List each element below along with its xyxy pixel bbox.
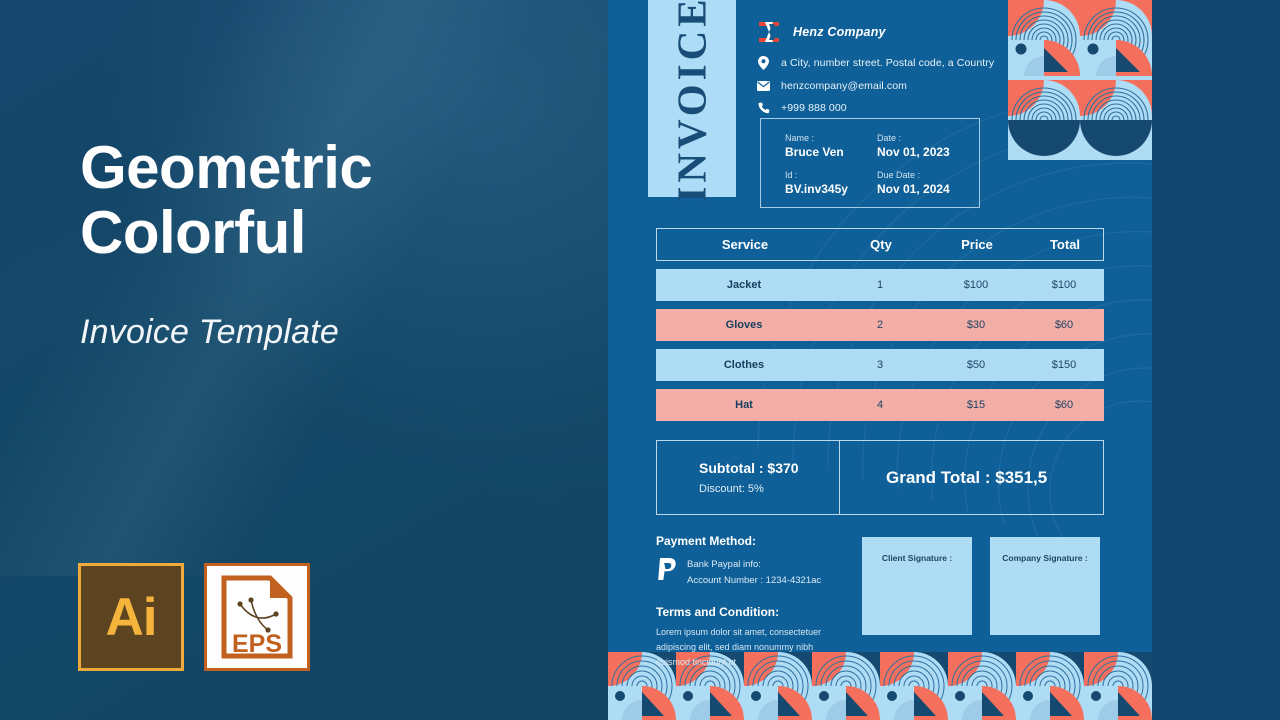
meta-date-label: Date :: [877, 133, 979, 143]
subtotal-cell: Subtotal : $370 Discount: 5%: [657, 441, 840, 514]
meta-due-value: Nov 01, 2024: [877, 182, 979, 196]
cell-qty: 3: [832, 359, 928, 371]
table-row: Jacket 1 $100 $100: [656, 269, 1104, 301]
location-pin-icon: [756, 56, 771, 70]
meta-name-label: Name :: [785, 133, 877, 143]
column-header-price: Price: [929, 237, 1025, 252]
cell-total: $60: [1024, 319, 1104, 331]
ai-format-badge[interactable]: Ai: [78, 563, 184, 671]
promo-panel: Geometric Colorful Invoice Template Ai E…: [0, 0, 608, 720]
table-row: Clothes 3 $50 $150: [656, 349, 1104, 381]
client-signature-box[interactable]: Client Signature :: [862, 537, 972, 635]
invoice-totals: Subtotal : $370 Discount: 5% Grand Total…: [656, 440, 1104, 515]
eps-format-badge[interactable]: EPS: [204, 563, 310, 671]
paypal-icon: [656, 557, 678, 581]
meta-id-label: Id :: [785, 170, 877, 180]
contact-email: henzcompany@email.com: [756, 80, 1134, 92]
cell-service: Gloves: [656, 319, 832, 331]
table-row: Gloves 2 $30 $60: [656, 309, 1104, 341]
meta-name-value: Bruce Ven: [785, 145, 877, 159]
contact-email-text: henzcompany@email.com: [781, 80, 907, 92]
cell-qty: 2: [832, 319, 928, 331]
henz-logo-icon: [756, 19, 782, 45]
cell-service: Hat: [656, 399, 832, 411]
envelope-icon: [756, 81, 771, 91]
format-badges: Ai EPS: [78, 563, 310, 671]
column-header-service: Service: [657, 237, 833, 252]
terms-body: Lorem ipsum dolor sit amet, consectetuer…: [656, 625, 836, 670]
cell-service: Clothes: [656, 359, 832, 371]
client-signature-label: Client Signature :: [882, 553, 952, 563]
meta-date-value: Nov 01, 2023: [877, 145, 979, 159]
company-signature-box[interactable]: Company Signature :: [990, 537, 1100, 635]
eps-badge-label: EPS: [232, 630, 282, 658]
meta-name-field: Name : Bruce Ven: [785, 133, 877, 159]
invoice-items-table: Service Qty Price Total Jacket 1 $100 $1…: [656, 228, 1104, 421]
column-header-qty: Qty: [833, 237, 929, 252]
meta-id-value: BV.inv345y: [785, 182, 877, 196]
cell-price: $30: [928, 319, 1024, 331]
meta-due-field: Due Date : Nov 01, 2024: [877, 170, 979, 196]
meta-id-field: Id : BV.inv345y: [785, 170, 877, 196]
promo-subtitle: Invoice Template: [80, 313, 339, 352]
contact-phone: +999 888 000: [756, 102, 1134, 114]
grand-total-cell: Grand Total : $351,5: [840, 441, 1103, 514]
invoice-vertical-label: INVOICE: [648, 0, 736, 197]
cell-service: Jacket: [656, 279, 832, 291]
discount-value: Discount: 5%: [699, 483, 839, 495]
paypal-row: Bank Paypal info: Account Number : 1234-…: [656, 557, 856, 588]
cell-total: $100: [1024, 279, 1104, 291]
cell-qty: 4: [832, 399, 928, 411]
terms-title: Terms and Condition:: [656, 605, 856, 619]
cell-price: $15: [928, 399, 1024, 411]
paypal-info-line: Bank Paypal info:: [687, 557, 821, 573]
phone-icon: [756, 102, 771, 114]
table-header-row: Service Qty Price Total: [656, 228, 1104, 261]
cell-total: $150: [1024, 359, 1104, 371]
invoice-header: Henz Company a City, number street. Post…: [756, 18, 1134, 114]
company-logo-row: Henz Company: [756, 18, 1134, 46]
promo-title-line-1: Geometric: [80, 134, 372, 201]
contact-phone-text: +999 888 000: [781, 102, 847, 114]
invoice-meta-box: Name : Bruce Ven Date : Nov 01, 2023 Id …: [760, 118, 980, 208]
cell-total: $60: [1024, 399, 1104, 411]
table-row: Hat 4 $15 $60: [656, 389, 1104, 421]
contact-address-text: a City, number street. Postal code, a Co…: [781, 57, 994, 69]
invoice-vertical-label-text: INVOICE: [668, 0, 716, 202]
cell-price: $100: [928, 279, 1024, 291]
promo-title: Geometric Colorful: [80, 136, 550, 266]
paypal-account-line: Account Number : 1234-4321ac: [687, 573, 821, 589]
company-name: Henz Company: [793, 25, 886, 39]
cell-qty: 1: [832, 279, 928, 291]
ai-badge-label: Ai: [106, 591, 157, 644]
payment-method-title: Payment Method:: [656, 534, 856, 548]
meta-date-field: Date : Nov 01, 2023: [877, 133, 979, 159]
light-sheen-overlay: [0, 0, 608, 576]
payment-section: Payment Method: Bank Paypal info: Accoun…: [656, 534, 856, 670]
company-signature-label: Company Signature :: [1002, 553, 1087, 563]
promo-title-line-2: Colorful: [80, 201, 550, 266]
cell-price: $50: [928, 359, 1024, 371]
contact-address: a City, number street. Postal code, a Co…: [756, 56, 1134, 70]
meta-due-label: Due Date :: [877, 170, 979, 180]
subtotal-value: Subtotal : $370: [699, 460, 839, 476]
eps-file-icon: EPS: [218, 574, 296, 660]
column-header-total: Total: [1025, 237, 1105, 252]
grand-total-value: Grand Total : $351,5: [886, 468, 1047, 488]
